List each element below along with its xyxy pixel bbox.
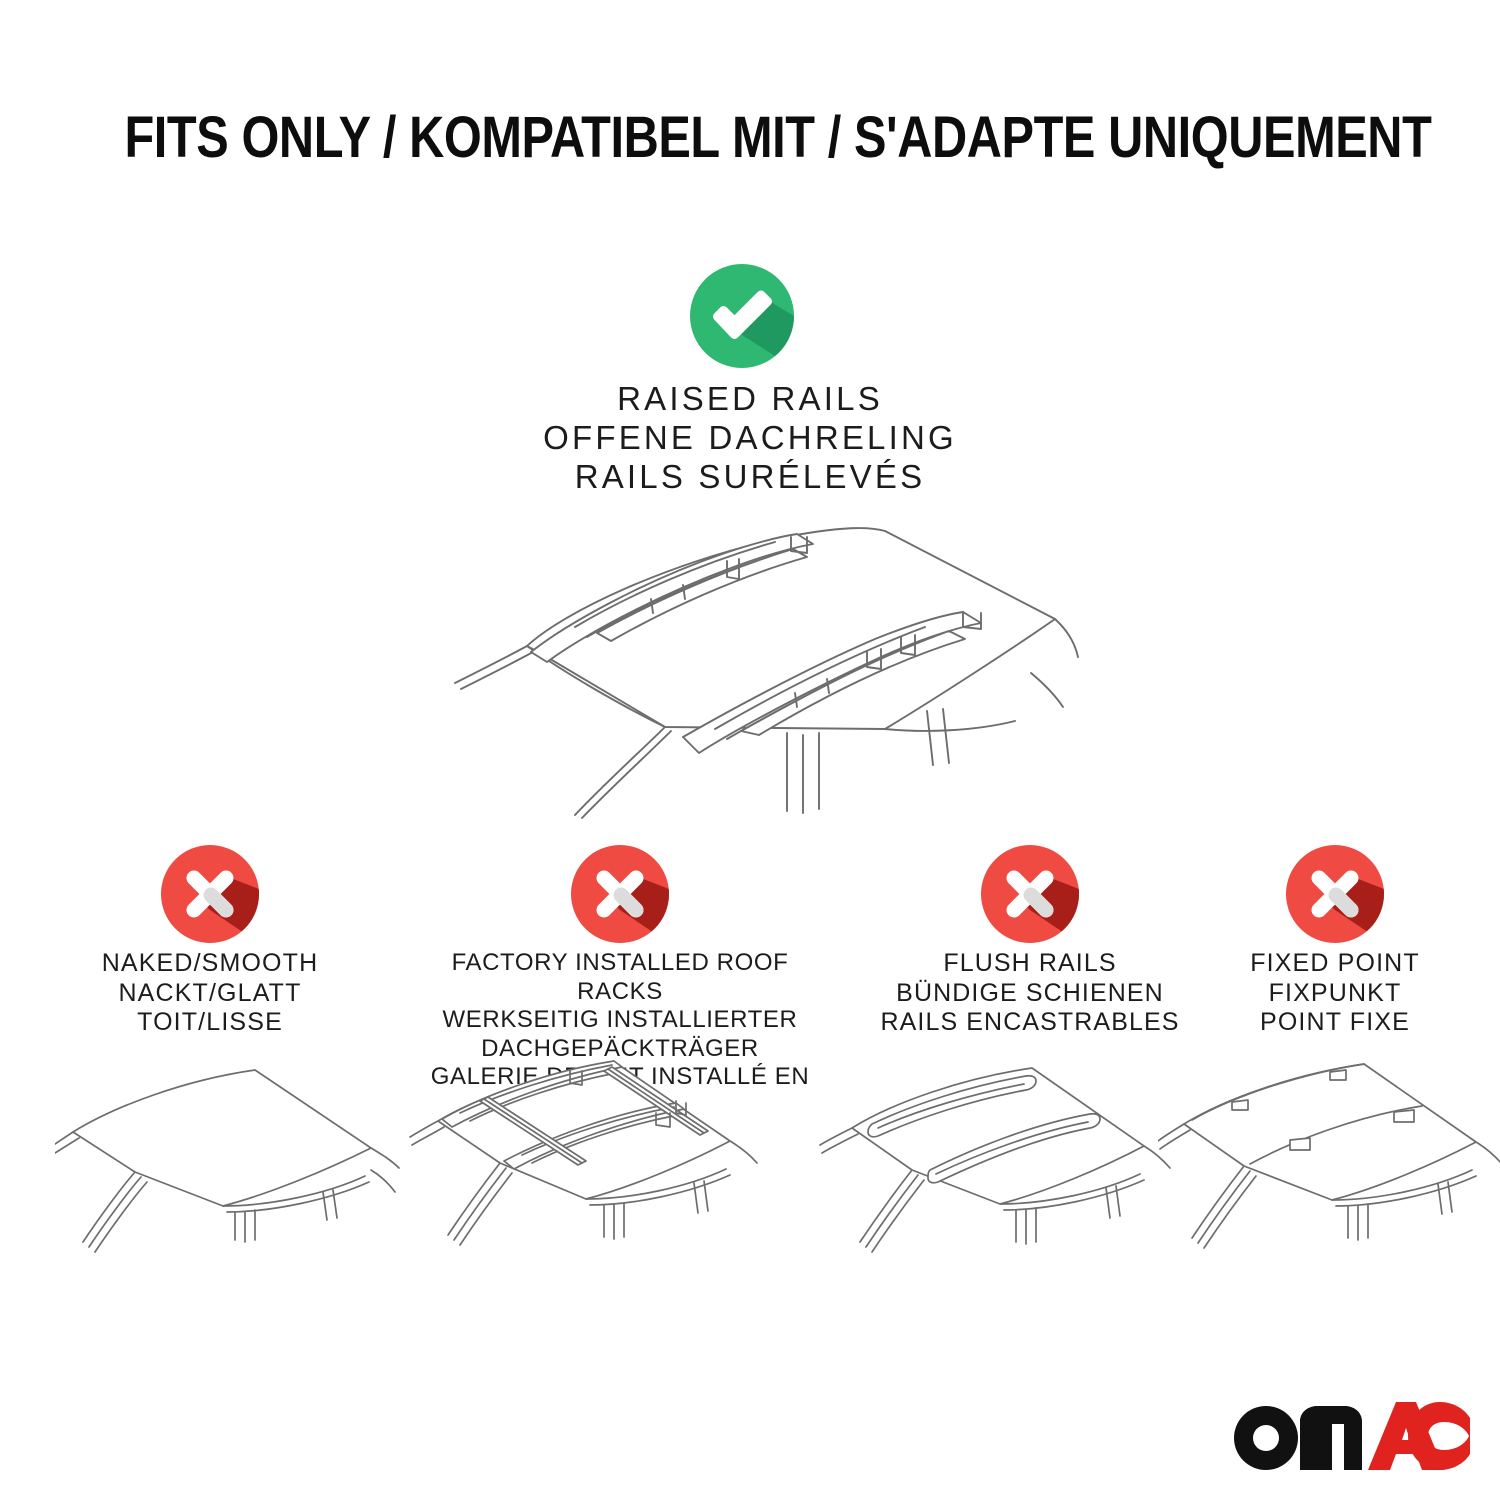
column-label-fixed-point: FIXED POINT FIXPUNKT POINT FIXE [1145, 949, 1500, 1038]
label-line-fr: TOIT/LISSE [20, 1008, 400, 1038]
check-circle-icon-graphic [690, 264, 794, 368]
logo-letter-o [1234, 1406, 1298, 1470]
x-circle-icon [1286, 845, 1384, 943]
label-line-en: FACTORY INSTALLED ROOF RACKS [430, 949, 810, 1006]
approved-label-line-de: OFFENE DACHRELING [350, 418, 1150, 457]
x-circle-icon-graphic [161, 845, 259, 943]
check-circle-icon [690, 264, 794, 368]
approved-label-line-fr: RAILS SURÉLEVÉS [350, 457, 1150, 496]
column-label-naked-smooth: NAKED/SMOOTH NACKT/GLATT TOIT/LISSE [20, 949, 400, 1038]
title-bar: FITS ONLY / KOMPATIBEL MIT / S'ADAPTE UN… [0, 104, 1500, 171]
car-roof-factory-racks-graphic [408, 1055, 758, 1280]
approved-label-line-en: RAISED RAILS [350, 379, 1150, 418]
car-roof-factory-racks-illustration [408, 1055, 758, 1280]
omac-logo-graphic [1232, 1400, 1472, 1472]
x-circle-icon [981, 845, 1079, 943]
label-line-de: NACKT/GLATT [20, 979, 400, 1009]
x-circle-icon-graphic [981, 845, 1079, 943]
car-roof-raised-rails-illustration [415, 515, 1085, 825]
page-title: FITS ONLY / KOMPATIBEL MIT / S'ADAPTE UN… [124, 104, 1431, 171]
label-line-en: FIXED POINT [1145, 949, 1500, 979]
x-circle-icon-graphic [571, 845, 669, 943]
car-roof-raised-rails-graphic [415, 515, 1085, 825]
car-roof-naked-smooth-graphic [55, 1060, 405, 1280]
omac-logo [1232, 1400, 1472, 1472]
label-line-fr: POINT FIXE [1145, 1008, 1500, 1038]
label-line-de-1: WERKSEITIG INSTALLIERTER [430, 1006, 810, 1035]
car-roof-naked-smooth-illustration [55, 1060, 405, 1280]
logo-letter-c [1408, 1402, 1470, 1470]
x-circle-icon-graphic [1286, 845, 1384, 943]
car-roof-flush-rails-illustration [818, 1058, 1173, 1280]
label-line-en: NAKED/SMOOTH [20, 949, 400, 979]
x-circle-icon [161, 845, 259, 943]
car-roof-flush-rails-graphic [818, 1058, 1173, 1280]
car-roof-fixed-point-illustration [1158, 1058, 1500, 1280]
label-line-de: FIXPUNKT [1145, 979, 1500, 1009]
approved-label: RAISED RAILS OFFENE DACHRELING RAILS SUR… [350, 379, 1150, 496]
logo-letter-m [1300, 1406, 1362, 1470]
x-circle-icon [571, 845, 669, 943]
car-roof-fixed-point-graphic [1158, 1058, 1500, 1280]
